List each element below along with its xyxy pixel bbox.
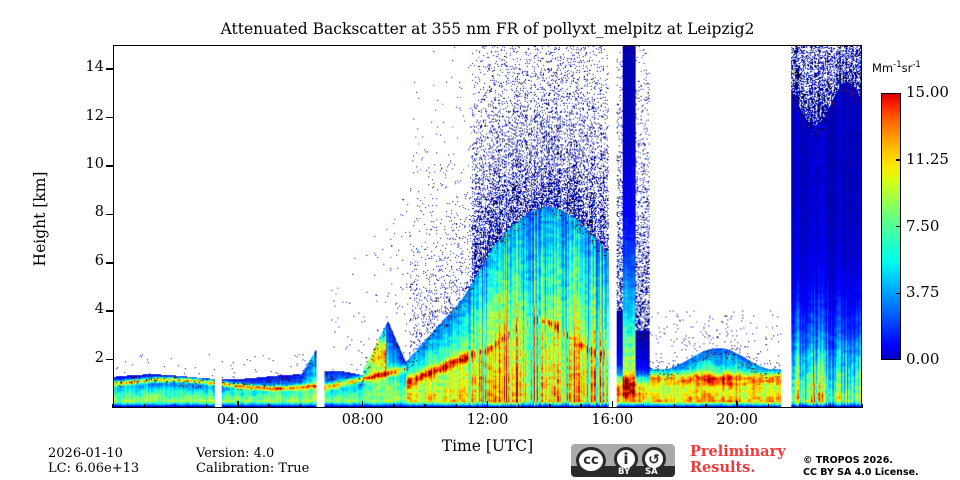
colorbar-tick-label: 3.75: [906, 283, 939, 301]
colorbar-tick-label: 15.00: [906, 83, 949, 101]
x-minor-tick: [799, 404, 800, 408]
y-major-tick: [106, 214, 113, 216]
y-major-tick: [106, 165, 113, 167]
cc-sa-label: SA: [645, 467, 658, 477]
x-minor-tick: [268, 404, 269, 408]
preliminary-results-notice: Preliminary Results.: [690, 444, 790, 476]
y-axis-title: Height [km]: [31, 149, 49, 289]
colorbar-units-label: Mm-1sr-1: [872, 60, 921, 75]
page-title: Attenuated Backscatter at 355 nm FR of p…: [113, 20, 862, 38]
x-minor-tick: [144, 404, 145, 408]
x-minor-tick: [768, 404, 769, 408]
x-tick-label: 08:00: [318, 412, 408, 428]
x-minor-tick: [424, 404, 425, 408]
x-minor-tick: [331, 404, 332, 408]
copyright-notice: © TROPOS 2026. CC BY SA 4.0 License.: [803, 455, 919, 479]
y-tick-label: 12: [60, 108, 104, 124]
x-minor-tick: [175, 404, 176, 408]
y-tick-label: 4: [60, 301, 104, 317]
x-minor-tick: [861, 404, 862, 408]
x-major-tick: [362, 401, 364, 408]
y-tick-label: 8: [60, 204, 104, 220]
y-tick-label: 10: [60, 156, 104, 172]
x-minor-tick: [705, 404, 706, 408]
footer-lidar-constant: LC: 6.06e+13: [48, 461, 139, 476]
x-minor-tick: [393, 404, 394, 408]
x-minor-tick: [643, 404, 644, 408]
x-minor-tick: [206, 404, 207, 408]
x-minor-tick: [580, 404, 581, 408]
x-minor-tick: [300, 404, 301, 408]
footer-calibration: Calibration: True: [196, 461, 309, 476]
colorbar-tick-label: 0.00: [906, 350, 939, 368]
y-tick-label: 2: [60, 350, 104, 366]
y-major-tick: [106, 262, 113, 264]
x-minor-tick: [674, 404, 675, 408]
x-major-tick: [487, 401, 489, 408]
x-tick-label: 12:00: [443, 412, 533, 428]
copyright-line-2: CC BY SA 4.0 License.: [803, 467, 919, 479]
colorbar-tick: [896, 293, 901, 295]
x-major-tick: [736, 401, 738, 408]
x-major-tick: [612, 401, 614, 408]
colorbar-tick: [896, 226, 901, 228]
cc-icon: cc: [576, 447, 606, 474]
cc-by-label: BY: [618, 467, 630, 477]
x-tick-label: 20:00: [692, 412, 782, 428]
colorbar-tick-label: 11.25: [906, 150, 949, 168]
x-minor-tick: [112, 404, 113, 408]
x-minor-tick: [549, 404, 550, 408]
colorbar-tick-label: 7.50: [906, 217, 939, 235]
y-major-tick: [106, 68, 113, 70]
x-tick-label: 04:00: [193, 412, 283, 428]
y-tick-label: 14: [60, 59, 104, 75]
footer-date: 2026-01-10: [48, 446, 123, 461]
x-tick-label: 16:00: [567, 412, 657, 428]
creative-commons-badge-icon: cc i ↺ BY SA: [571, 444, 675, 477]
x-minor-tick: [830, 404, 831, 408]
footer-version: Version: 4.0: [196, 446, 274, 461]
lidar-quicklook-figure: Attenuated Backscatter at 355 nm FR of p…: [0, 0, 960, 480]
y-tick-label: 6: [60, 253, 104, 269]
y-major-tick: [106, 310, 113, 312]
colorbar-tick: [896, 159, 901, 161]
backscatter-heatmap-canvas: [114, 46, 861, 407]
x-major-tick: [237, 401, 239, 408]
x-minor-tick: [518, 404, 519, 408]
copyright-line-1: © TROPOS 2026.: [803, 455, 919, 467]
heatmap-plot-area: [113, 45, 862, 408]
y-major-tick: [106, 359, 113, 361]
y-major-tick: [106, 117, 113, 119]
x-minor-tick: [456, 404, 457, 408]
